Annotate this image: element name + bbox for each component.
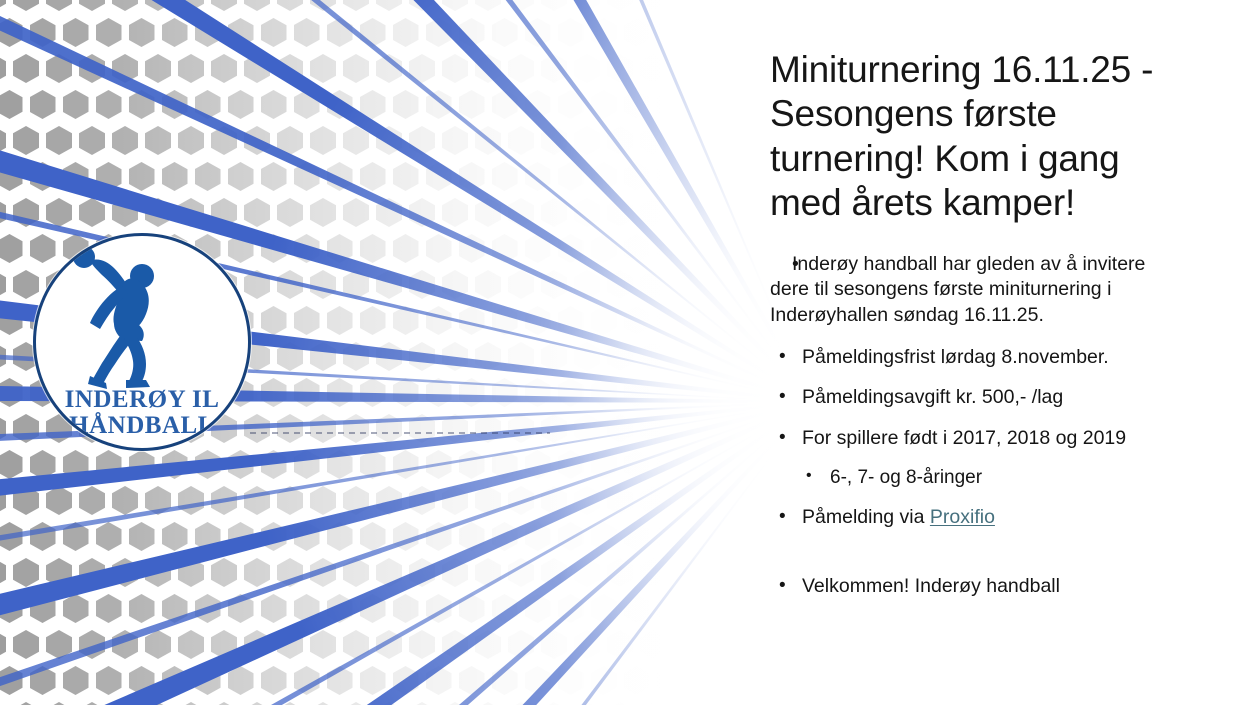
slide-title: Miniturnering 16.11.25 - Sesongens først…: [770, 48, 1170, 226]
bullet-marker: •: [779, 385, 795, 410]
list-item-label: Velkommen! Inderøy handball: [770, 574, 1170, 599]
bullet-marker: •: [779, 345, 795, 370]
logo-wordmark: INDERØY IL HÅNDBALL: [36, 387, 248, 438]
bullet-marker: •: [779, 505, 795, 530]
bullet-marker: •: [779, 574, 795, 599]
handball-player-silhouette: [62, 244, 192, 392]
list-item: Inderøy handball har gleden av å inviter…: [770, 252, 1170, 328]
presentation-slide: INDERØY IL HÅNDBALL Miniturnering 16.11.…: [0, 0, 1245, 705]
list-item-label: Påmeldingsfrist lørdag 8.november.: [770, 345, 1170, 370]
decorative-graphic-panel: INDERØY IL HÅNDBALL: [0, 0, 860, 705]
list-item: •Velkommen! Inderøy handball: [770, 574, 1170, 599]
list-item: •Påmelding via Proxifio: [770, 505, 1170, 530]
list-item-label: Påmelding via Proxifio: [770, 505, 1170, 530]
list-item-label: Inderøy handball har gleden av å inviter…: [770, 252, 1170, 328]
list-item-label: For spillere født i 2017, 2018 og 2019: [770, 426, 1170, 451]
bullet-marker: •: [806, 466, 822, 487]
list-item: •For spillere født i 2017, 2018 og 2019: [770, 426, 1170, 451]
list-item: •Påmeldingsavgift kr. 500,- /lag: [770, 385, 1170, 410]
slide-text-column: Miniturnering 16.11.25 - Sesongens først…: [762, 0, 1245, 705]
list-item: •Påmeldingsfrist lørdag 8.november.: [770, 345, 1170, 370]
bullet-marker: •: [779, 426, 795, 451]
logo-line-1: INDERØY IL: [36, 387, 248, 413]
list-item: •6-, 7- og 8-åringer: [770, 466, 1170, 491]
club-logo: INDERØY IL HÅNDBALL: [33, 233, 251, 451]
list-item-label: Påmeldingsavgift kr. 500,- /lag: [770, 385, 1170, 410]
slide-bullet-list: Inderøy handball har gleden av å inviter…: [770, 252, 1170, 614]
logo-line-2: HÅNDBALL: [36, 413, 248, 439]
list-item-label: 6-, 7- og 8-åringer: [770, 466, 1170, 491]
proxifio-link[interactable]: Proxifio: [930, 506, 995, 528]
